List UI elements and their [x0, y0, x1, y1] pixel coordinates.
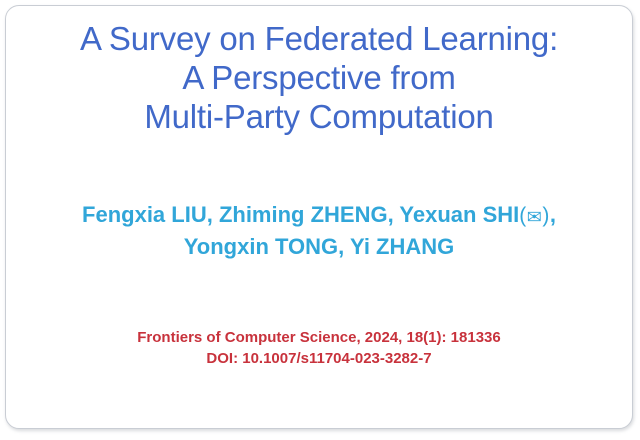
journal-reference: Frontiers of Computer Science, 2024, 18(…: [6, 328, 632, 349]
author-list: Fengxia LIU, Zhiming ZHENG, Yexuan SHI(✉…: [6, 199, 632, 262]
corresponding-author-marker: (✉): [519, 204, 550, 227]
title-line-1: A Survey on Federated Learning:: [6, 20, 632, 59]
paper-title: A Survey on Federated Learning: A Perspe…: [6, 20, 632, 137]
author-line-2: Yongxin TONG, Yi ZHANG: [6, 231, 632, 262]
doi-reference: DOI: 10.1007/s11704-023-3282-7: [6, 349, 632, 370]
envelope-icon: ✉: [527, 208, 543, 226]
paper-title-card: A Survey on Federated Learning: A Perspe…: [5, 5, 633, 429]
title-line-2: A Perspective from: [6, 59, 632, 98]
author-names-primary: Fengxia LIU, Zhiming ZHENG, Yexuan SHI: [82, 202, 519, 227]
paren-close: ): [542, 204, 550, 227]
author-line-1-trailing-comma: ,: [550, 202, 556, 227]
author-line-1: Fengxia LIU, Zhiming ZHENG, Yexuan SHI(✉…: [6, 199, 632, 231]
citation: Frontiers of Computer Science, 2024, 18(…: [6, 328, 632, 369]
title-line-3: Multi-Party Computation: [6, 98, 632, 137]
paren-open: (: [519, 204, 527, 227]
